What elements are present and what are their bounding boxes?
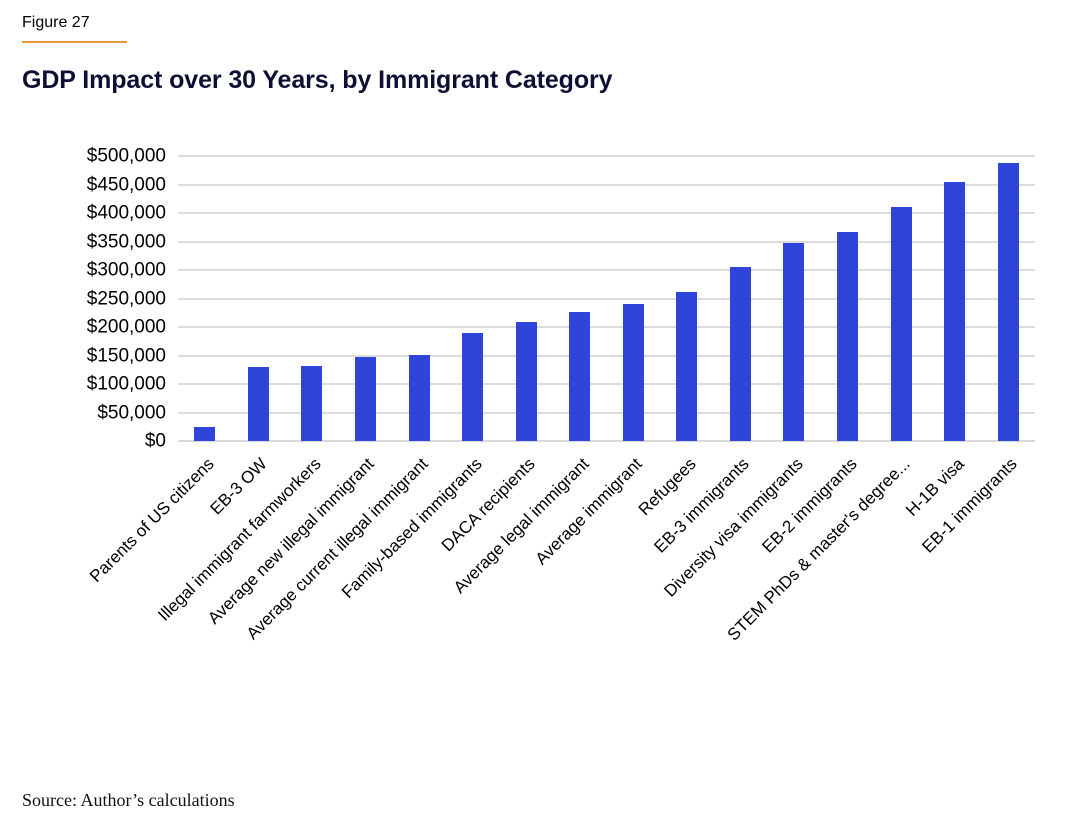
bar[interactable] (569, 312, 590, 441)
bar[interactable] (998, 163, 1019, 441)
bar[interactable] (783, 243, 804, 441)
y-axis-tick-label: $150,000 (0, 346, 166, 365)
bars-group (178, 156, 1035, 441)
y-axis-tick-label: $0 (0, 432, 166, 451)
x-axis-tick-text: EB-3 immigrants (652, 455, 754, 557)
y-axis-tick-label: $300,000 (0, 261, 166, 280)
bar[interactable] (837, 232, 858, 441)
bar[interactable] (676, 292, 697, 441)
y-axis-tick-label: $500,000 (0, 147, 166, 166)
y-axis-tick-label: $400,000 (0, 204, 166, 223)
bar[interactable] (409, 355, 430, 441)
y-axis: $500,000$450,000$400,000$350,000$300,000… (0, 156, 166, 441)
bar[interactable] (462, 333, 483, 441)
x-axis-tick-text: EB-1 immigrants (919, 455, 1021, 557)
bar[interactable] (516, 322, 537, 441)
bar[interactable] (194, 427, 215, 441)
bar[interactable] (944, 182, 965, 441)
y-axis-tick-label: $250,000 (0, 289, 166, 308)
source-note: Source: Author’s calculations (22, 789, 235, 811)
bar[interactable] (355, 357, 376, 441)
y-axis-tick-label: $200,000 (0, 318, 166, 337)
x-axis-tick-text: DACA recipients (439, 455, 539, 555)
bar[interactable] (891, 207, 912, 441)
x-axis: Parents of US citizensEB-3 OWIllegal imm… (178, 441, 1035, 741)
y-axis-tick-label: $100,000 (0, 375, 166, 394)
y-axis-tick-label: $450,000 (0, 175, 166, 194)
bar[interactable] (301, 366, 322, 441)
y-axis-tick-label: $350,000 (0, 232, 166, 251)
bar-chart: $500,000$450,000$400,000$350,000$300,000… (0, 0, 1069, 830)
bar[interactable] (623, 304, 644, 441)
bar[interactable] (730, 267, 751, 441)
x-axis-tick-text: EB-2 immigrants (759, 455, 861, 557)
bar[interactable] (248, 367, 269, 441)
plot-area (178, 156, 1035, 441)
y-axis-tick-label: $50,000 (0, 403, 166, 422)
